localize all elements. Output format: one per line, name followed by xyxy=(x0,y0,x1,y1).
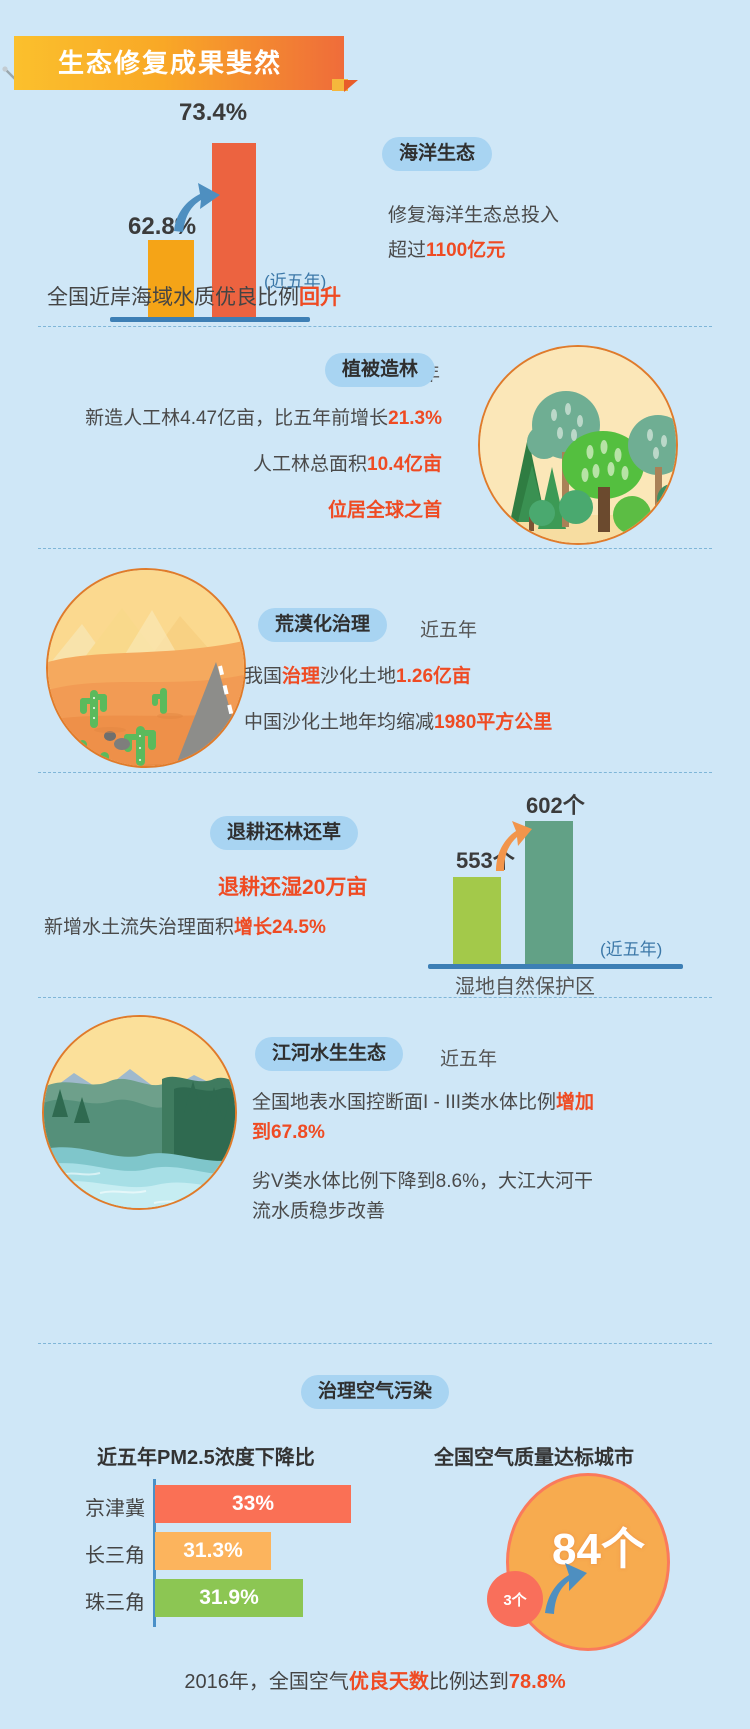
pm25-bar-1-value: 31.3% xyxy=(183,1539,243,1563)
wetland-line1: 退耕还湿20万亩 xyxy=(218,872,367,905)
forest-line3: 位居全球之首 xyxy=(328,496,442,525)
air-cities-up-arrow-icon xyxy=(543,1553,591,1617)
pm25-row-0-label: 京津冀 xyxy=(85,1492,145,1521)
air-tag-wrap: 治理空气污染 xyxy=(0,1375,750,1409)
river-tag-wrap: 江河水生生态 xyxy=(255,1037,403,1071)
ribbon-body: 生态修复成果斐然 xyxy=(14,36,344,90)
pm25-row-1-label: 长三角 xyxy=(85,1539,145,1568)
wetland-tag-wrap: 退耕还林还草 xyxy=(210,816,358,850)
forest-illustration xyxy=(478,345,678,545)
divider-3 xyxy=(38,772,712,773)
river-line3: 劣V类水体比例下降到8.6%，大江大河干 xyxy=(252,1167,593,1196)
forest-scene-icon xyxy=(480,347,678,545)
section-forest: 近五年 植被造林 新造人工林4.47亿亩，比五年前增长21.3% 人工林总面积1… xyxy=(0,345,750,540)
wetland-bar-0 xyxy=(453,877,501,964)
desert-period: 近五年 xyxy=(420,620,477,641)
pm25-row-2-label: 珠三角 xyxy=(85,1586,145,1615)
divider-5 xyxy=(38,1343,712,1344)
section-wetland: 退耕还林还草 退耕还湿20万亩 新增水土流失治理面积增长24.5% 553个 6… xyxy=(0,785,750,990)
ocean-caption: 全国近岸海域水质优良比例回升 xyxy=(47,281,341,311)
wetland-tag: 退耕还林还草 xyxy=(210,816,358,850)
river-scene-icon xyxy=(44,1017,237,1210)
air-left-heading: 近五年PM2.5浓度下降比 xyxy=(97,1441,315,1470)
pm25-row-0: 京津冀 33% xyxy=(155,1485,351,1523)
desert-line1-a: 我国 xyxy=(244,666,282,687)
pm25-bar-1: 31.3% xyxy=(155,1532,271,1570)
air-right-heading: 全国空气质量达标城市 xyxy=(434,1441,634,1470)
air-tag: 治理空气污染 xyxy=(301,1375,449,1409)
pm25-bar-2-value: 31.9% xyxy=(199,1586,259,1610)
river-line4: 流水质稳步改善 xyxy=(252,1197,385,1226)
air-footer-b: 比例达到 xyxy=(429,1671,509,1693)
desert-tag: 荒漠化治理 xyxy=(258,608,387,642)
section-air: 治理空气污染 近五年PM2.5浓度下降比 全国空气质量达标城市 京津冀 33% … xyxy=(0,1345,750,1729)
air-footer-hl2: 78.8% xyxy=(509,1671,566,1693)
desert-tag-wrap: 荒漠化治理 xyxy=(258,608,387,642)
ocean-body-line2-hl: 1100亿元 xyxy=(426,240,505,261)
wetland-period-note: (近五年) xyxy=(600,935,662,960)
ribbon-fold xyxy=(344,80,358,92)
ocean-caption-plain: 全国近岸海域水质优良比例 xyxy=(47,286,299,309)
title-ribbon: 生态修复成果斐然 xyxy=(0,36,360,90)
forest-tag: 植被造林 xyxy=(325,353,435,387)
air-footer: 2016年，全国空气优良天数比例达到78.8% xyxy=(0,1665,750,1694)
ocean-tag-wrap: 海洋生态 xyxy=(382,137,492,171)
river-tag: 江河水生生态 xyxy=(255,1037,403,1071)
section-river: 江河水生生态 近五年 全国地表水国控断面I - III类水体比例增加 到67.8… xyxy=(0,1005,750,1285)
air-footer-a: 2016年，全国空气 xyxy=(184,1671,349,1693)
divider-4 xyxy=(38,997,712,998)
forest-line2-plain: 人工林总面积 xyxy=(253,454,367,475)
wetland-up-arrow-icon xyxy=(492,813,536,875)
pm25-row-2: 珠三角 31.9% xyxy=(155,1579,303,1617)
desert-period-wrap: 近五年 xyxy=(420,615,477,642)
divider-2 xyxy=(38,548,712,549)
air-footer-hl1: 优良天数 xyxy=(349,1671,429,1693)
wetland-axis-label: 湿地自然保护区 xyxy=(455,970,595,999)
section-desert: 荒漠化治理 近五年 我国治理沙化土地1.26亿亩 中国沙化土地年均缩减1980平… xyxy=(0,560,750,775)
ocean-body-line2: 超过1100亿元 xyxy=(388,236,505,265)
desert-line1-hl2: 1.26亿亩 xyxy=(396,666,471,687)
forest-line1-hl: 21.3% xyxy=(388,408,442,429)
ocean-body-line2-plain: 超过 xyxy=(388,240,426,261)
ocean-caption-hl: 回升 xyxy=(299,286,341,309)
wetland-line1-hl: 退耕还湿20万亩 xyxy=(218,876,367,899)
desert-line2-plain: 中国沙化土地年均缩减 xyxy=(244,712,434,733)
river-line2: 到67.8% xyxy=(252,1118,325,1147)
desert-line2: 中国沙化土地年均缩减1980平方公里 xyxy=(244,708,552,737)
infographic-page: 生态修复成果斐然 62.8% 73.4% (近五年) 海洋生态 修复海洋生态总投… xyxy=(0,0,750,1729)
river-period: 近五年 xyxy=(440,1049,497,1070)
river-line1-hl: 增加 xyxy=(556,1092,594,1113)
river-line2-hl: 到67.8% xyxy=(252,1122,325,1143)
wetland-line2-plain: 新增水土流失治理面积 xyxy=(44,917,234,938)
river-illustration xyxy=(42,1015,237,1210)
desert-illustration xyxy=(46,568,246,768)
pm25-row-1: 长三角 31.3% xyxy=(155,1532,271,1570)
ocean-tag: 海洋生态 xyxy=(382,137,492,171)
pm25-bar-2: 31.9% xyxy=(155,1579,303,1617)
pm25-bar-0-value: 33% xyxy=(232,1492,274,1516)
forest-line1-plain: 新造人工林4.47亿亩，比五年前增长 xyxy=(85,408,388,429)
desert-line1: 我国治理沙化土地1.26亿亩 xyxy=(244,662,471,691)
pm25-bar-0: 33% xyxy=(155,1485,351,1523)
ocean-up-arrow-icon xyxy=(170,175,228,237)
page-title: 生态修复成果斐然 xyxy=(58,50,282,76)
divider-1 xyxy=(38,326,712,327)
ocean-axis-baseline xyxy=(110,317,310,322)
wetland-line2-hl: 增长24.5% xyxy=(234,917,326,938)
river-line1: 全国地表水国控断面I - III类水体比例增加 xyxy=(252,1088,594,1117)
wetland-line2: 新增水土流失治理面积增长24.5% xyxy=(44,913,326,942)
river-line1-plain: 全国地表水国控断面I - III类水体比例 xyxy=(252,1092,556,1113)
river-period-wrap: 近五年 xyxy=(440,1044,497,1071)
ocean-body-line1: 修复海洋生态总投入 xyxy=(388,201,559,230)
forest-line2: 人工林总面积10.4亿亩 xyxy=(253,450,442,479)
wetland-axis-baseline xyxy=(428,964,683,969)
forest-line1: 新造人工林4.47亿亩，比五年前增长21.3% xyxy=(85,404,442,433)
forest-line3-hl: 位居全球之首 xyxy=(328,500,442,521)
forest-line2-hl: 10.4亿亩 xyxy=(367,454,442,475)
air-cities-small-value: 3个 xyxy=(503,1589,526,1610)
forest-tag-wrap: 植被造林 xyxy=(325,353,435,387)
air-cities-small-circle: 3个 xyxy=(487,1571,543,1627)
desert-scene-icon xyxy=(48,570,246,768)
desert-line1-hl1: 治理 xyxy=(282,666,320,687)
desert-line2-hl: 1980平方公里 xyxy=(434,712,552,733)
desert-line1-b: 沙化土地 xyxy=(320,666,396,687)
ocean-bar-label-1: 73.4% xyxy=(179,99,247,127)
